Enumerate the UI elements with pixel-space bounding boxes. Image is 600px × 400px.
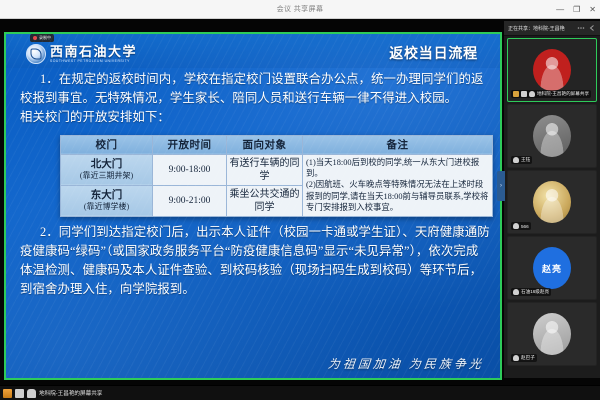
cell-target: 乘坐公共交通的同学 — [227, 185, 303, 216]
cell-open-time: 9:00-21:00 — [153, 185, 227, 216]
cell-gate-name: 北大门 (靠近三期井架) — [61, 154, 153, 185]
recording-label: 录制中 — [39, 35, 51, 41]
avatar-face-icon — [533, 313, 571, 355]
slide-paragraph-2: 2．同学们到达指定校门后，出示本人证件（校园一卡通或学生证）、天府健康通防疫健康… — [20, 223, 490, 300]
maximize-icon[interactable]: ❐ — [573, 6, 580, 14]
participant-name-chip: 石油16级赵亮 — [511, 288, 551, 296]
rail-collapse-handle[interactable]: › — [497, 171, 505, 201]
avatar-face-icon — [533, 115, 571, 157]
gate-name-sub: (靠近博学楼) — [63, 202, 150, 212]
university-logo: 西南石油大学 SOUTHWEST PETROLEUM UNIVERSITY — [26, 44, 137, 64]
minimize-icon[interactable]: — — [556, 6, 564, 14]
participant-tiles: 地科院-王昌艳的屏幕共享 王钰 566 赵亮 — [504, 36, 600, 378]
microphone-icon — [513, 223, 519, 229]
th-gate: 校门 — [61, 135, 153, 154]
avatar — [533, 313, 571, 355]
app-icon[interactable] — [3, 389, 12, 398]
participant-rail: 正在共享：地科院-王昌艳 地科院-王昌艳的屏幕共享 — [504, 21, 600, 378]
slide-body: 1．在规定的返校时间内，学校在指定校门设置联合办公点，统一办理同学们的返校报到事… — [20, 70, 490, 300]
avatar — [533, 181, 571, 223]
microphone-icon — [529, 91, 535, 97]
list-item[interactable]: 赵巴子 — [507, 302, 597, 366]
window-controls: — ❐ ✕ — [556, 0, 596, 19]
slide-title: 返校当日流程 — [389, 43, 478, 63]
window-title: 会议 共享屏幕 — [277, 4, 324, 14]
recording-dot-icon — [33, 36, 37, 40]
gate-name-main: 北大门 — [63, 158, 150, 171]
avatar — [533, 115, 571, 157]
share-icon — [513, 91, 519, 97]
taskbar: 地科院-王昌艳的屏幕共享 — [0, 385, 600, 400]
avatar-face-icon — [533, 181, 571, 223]
participant-name: 王钰 — [521, 157, 530, 163]
slide-calligraphy-slogan: 为祖国加油 为民族争光 — [327, 355, 485, 372]
slide-paragraph-1: 1．在规定的返校时间内，学校在指定校门设置联合办公点，统一办理同学们的返校报到事… — [20, 70, 490, 108]
participant-name: 赵巴子 — [521, 355, 535, 361]
avatar — [533, 49, 571, 91]
participant-name-chip: 赵巴子 — [511, 354, 537, 362]
gate-schedule-table: 校门 开放时间 面向对象 备注 北大门 (靠近三期井架) 9:00- — [60, 135, 493, 217]
cell-open-time: 9:00-18:00 — [153, 154, 227, 185]
cell-target: 有送行车辆的同学 — [227, 154, 303, 185]
screen-root: 会议 共享屏幕 — ❐ ✕ 录制中 西南石油大学 SOUTHWEST PETRO… — [0, 0, 600, 400]
participant-name-chip: 王钰 — [511, 156, 532, 164]
participant-name: 石油16级赵亮 — [521, 289, 549, 295]
gate-name-main: 东大门 — [63, 189, 150, 202]
microphone-icon — [513, 157, 519, 163]
shared-screen-frame: 录制中 西南石油大学 SOUTHWEST PETROLEUM UNIVERSIT… — [4, 32, 502, 380]
university-name-en: SOUTHWEST PETROLEUM UNIVERSITY — [50, 60, 137, 63]
th-time: 开放时间 — [153, 135, 227, 154]
avatar-face-icon — [533, 49, 571, 91]
remark-item-1: (1)当天18:00后到校的同学,统一从东大门进校报到。 — [306, 157, 489, 180]
microphone-icon[interactable] — [27, 389, 36, 398]
close-icon[interactable]: ✕ — [589, 6, 596, 14]
remark-item-2: (2)因航班、火车晚点等特殊情况无法在上述时段报到的同学,请在当天18:00前与… — [306, 179, 489, 213]
presentation-slide: 录制中 西南石油大学 SOUTHWEST PETROLEUM UNIVERSIT… — [6, 34, 500, 378]
slide-paragraph-1b: 相关校门的开放安排如下： — [20, 108, 490, 127]
camera-icon — [521, 91, 527, 97]
th-target: 面向对象 — [227, 135, 303, 154]
university-seal-icon — [26, 44, 46, 64]
more-options-icon[interactable] — [577, 24, 585, 32]
camera-icon[interactable] — [15, 389, 24, 398]
microphone-icon — [513, 289, 519, 295]
list-item[interactable]: 566 — [507, 170, 597, 234]
participant-name-chip: 地科院-王昌艳的屏幕共享 — [511, 90, 591, 98]
gate-name-sub: (靠近三期井架) — [63, 171, 150, 181]
taskbar-label: 地科院-王昌艳的屏幕共享 — [39, 389, 102, 397]
cell-remarks: (1)当天18:00后到校的同学,统一从东大门进校报到。 (2)因航班、火车晚点… — [303, 154, 493, 216]
table-header-row: 校门 开放时间 面向对象 备注 — [61, 135, 493, 154]
th-note: 备注 — [303, 135, 493, 154]
list-item[interactable]: 赵亮 石油16级赵亮 — [507, 236, 597, 300]
list-item[interactable]: 王钰 — [507, 104, 597, 168]
sharing-status-label: 正在共享：地科院-王昌艳 — [508, 25, 574, 32]
microphone-icon — [513, 355, 519, 361]
participant-name-chip: 566 — [511, 222, 531, 230]
window-titlebar: 会议 共享屏幕 — ❐ ✕ — [0, 0, 600, 19]
university-name-cn: 西南石油大学 — [50, 45, 137, 58]
participant-name: 566 — [521, 224, 529, 229]
table-row: 北大门 (靠近三期井架) 9:00-18:00 有送行车辆的同学 (1)当天18… — [61, 154, 493, 185]
avatar: 赵亮 — [533, 247, 571, 289]
participant-name: 地科院-王昌艳的屏幕共享 — [537, 91, 589, 97]
rail-header: 正在共享：地科院-王昌艳 — [504, 21, 600, 36]
recording-badge: 录制中 — [30, 34, 54, 42]
university-name-block: 西南石油大学 SOUTHWEST PETROLEUM UNIVERSITY — [50, 45, 137, 63]
collapse-rail-icon[interactable] — [588, 24, 596, 32]
cell-gate-name: 东大门 (靠近博学楼) — [61, 185, 153, 216]
list-item[interactable]: 地科院-王昌艳的屏幕共享 — [507, 38, 597, 102]
